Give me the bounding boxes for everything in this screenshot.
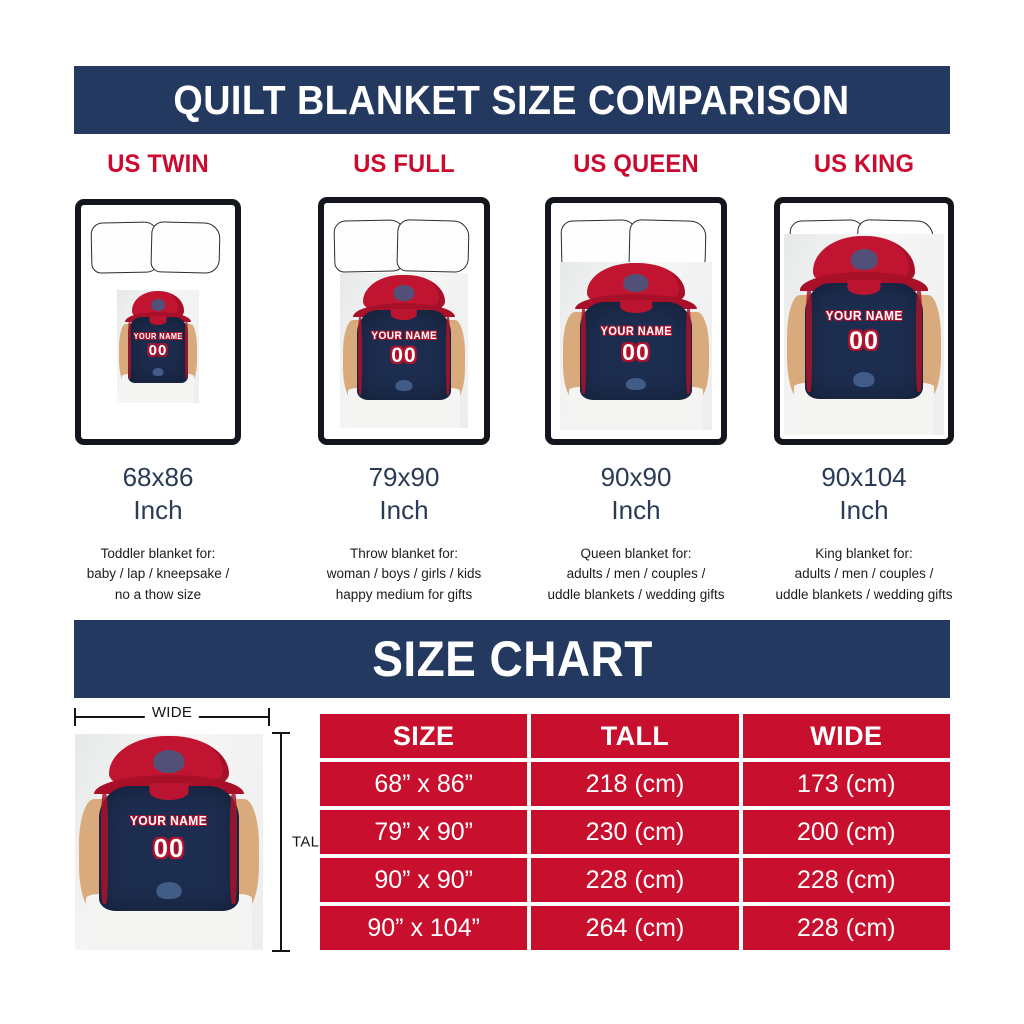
bed-illustration: YOUR NAME 00 [524,195,748,445]
cell-size: 90” x 90” [320,858,527,902]
size-chart-table: SIZE TALL WIDE 68” x 86” 218 (cm) 173 (c… [316,710,954,954]
dimension-value: 90x90 [524,461,748,494]
table-row: 79” x 90” 230 (cm) 200 (cm) [320,810,950,854]
cell-size: 68” x 86” [320,762,527,806]
desc-line-1: Queen blanket for: [524,544,748,565]
blanket-thumbnail: YOUR NAME 00 [340,273,468,428]
page-title: QUILT BLANKET SIZE COMPARISON [174,77,850,124]
wide-measure-line: WIDE [74,706,270,728]
bed-frame: YOUR NAME 00 [318,197,490,445]
wide-cap-right [268,708,270,726]
jersey: YOUR NAME 00 [805,283,923,399]
jersey: YOUR NAME 00 [357,310,451,400]
team-logo-icon [626,378,646,391]
size-label: US QUEEN [530,150,743,179]
size-column-twin: US TWIN [46,150,270,605]
jersey-artwork: YOUR NAME 00 [560,262,712,431]
dimension-value: 68x86 [46,461,270,494]
size-label: US FULL [298,150,511,179]
desc-line-2: adults / men / couples / [752,564,976,585]
jersey-name-text: YOUR NAME [361,330,448,342]
cell-size: 79” x 90” [320,810,527,854]
team-logo-icon [156,882,181,898]
bed-illustration: YOUR NAME 00 [292,195,516,445]
jersey-artwork: YOUR NAME 00 [784,234,944,435]
bed-frame: YOUR NAME 00 [774,197,954,445]
bed-interior: YOUR NAME 00 [85,209,231,435]
jersey-number-text: 00 [357,344,451,368]
pillows [334,216,474,275]
top-banner: QUILT BLANKET SIZE COMPARISON [74,66,950,134]
table-row: 90” x 104” 264 (cm) 228 (cm) [320,906,950,950]
dimension-unit: Inch [524,494,748,527]
size-label: US KING [758,150,971,179]
jersey-number-text: 00 [805,327,923,356]
cell-wide: 228 (cm) [743,906,950,950]
dimension-unit: Inch [46,494,270,527]
team-logo-icon [395,380,412,392]
dimension-block: 90x104 Inch [752,461,976,528]
size-description: Throw blanket for: woman / boys / girls … [292,544,516,606]
column-header-size: SIZE [320,714,527,758]
desc-line-2: adults / men / couples / [524,564,748,585]
table-row: 90” x 90” 228 (cm) 228 (cm) [320,858,950,902]
desc-line-1: King blanket for: [752,544,976,565]
cell-wide: 173 (cm) [743,762,950,806]
size-column-queen: US QUEEN [524,150,748,605]
reference-measure-block: WIDE TALL YOUR NAME 00 [70,706,320,956]
pillow-left [90,221,160,274]
team-logo-icon [853,372,874,387]
wide-cap-left [74,708,76,726]
jersey-number-text: 00 [580,339,693,366]
bed-illustration: YOUR NAME 00 [46,195,270,445]
size-description: King blanket for: adults / men / couples… [752,544,976,606]
bed-frame: YOUR NAME 00 [545,197,727,445]
desc-line-3: uddle blankets / wedding gifts [524,585,748,606]
size-description: Queen blanket for: adults / men / couple… [524,544,748,606]
cell-wide: 228 (cm) [743,858,950,902]
dimension-unit: Inch [292,494,516,527]
bed-interior: YOUR NAME 00 [784,207,944,435]
jersey-number-text: 00 [99,833,238,864]
desc-line-3: happy medium for gifts [292,585,516,606]
desc-line-1: Throw blanket for: [292,544,516,565]
bed-interior: YOUR NAME 00 [328,207,480,435]
desc-line-1: Toddler blanket for: [46,544,270,565]
desc-line-2: woman / boys / girls / kids [292,564,516,585]
bed-frame: YOUR NAME 00 [75,199,241,445]
dimension-unit: Inch [752,494,976,527]
size-chart-title: SIZE CHART [372,630,653,688]
cell-wide: 200 (cm) [743,810,950,854]
jersey-name-text: YOUR NAME [130,332,186,341]
blanket-thumbnail: YOUR NAME 00 [784,234,944,435]
jersey: YOUR NAME 00 [99,786,238,911]
bed-interior: YOUR NAME 00 [555,207,717,435]
dimension-block: 79x90 Inch [292,461,516,528]
table-header-row: SIZE TALL WIDE [320,714,950,758]
pillows [91,218,225,277]
jersey-number-text: 00 [128,342,188,359]
tall-cap-top [272,732,290,734]
desc-line-3: uddle blankets / wedding gifts [752,585,976,606]
dimension-value: 79x90 [292,461,516,494]
pillow-right [151,221,221,274]
bed-illustration: YOUR NAME 00 [752,195,976,445]
dimension-block: 90x90 Inch [524,461,748,528]
size-chart-banner: SIZE CHART [74,620,950,698]
size-label: US TWIN [52,150,265,179]
pillow-right [396,219,469,273]
team-logo-icon [153,368,164,377]
size-column-full: US FULL [292,150,516,605]
size-column-king: US KING [752,150,976,605]
jersey: YOUR NAME 00 [580,302,693,400]
desc-line-3: no a thow size [46,585,270,606]
wide-label: WIDE [145,704,199,721]
dimension-value: 90x104 [752,461,976,494]
tall-cap-bottom [272,950,290,952]
size-comparison-page: QUILT BLANKET SIZE COMPARISON US TWIN [0,0,1024,1024]
cell-tall: 228 (cm) [531,858,738,902]
jersey-artwork: YOUR NAME 00 [340,273,468,428]
column-header-tall: TALL [531,714,738,758]
table-row: 68” x 86” 218 (cm) 173 (cm) [320,762,950,806]
dimension-block: 68x86 Inch [46,461,270,528]
pillow-left [334,219,407,272]
cell-tall: 218 (cm) [531,762,738,806]
jersey-name-text: YOUR NAME [584,324,688,338]
jersey-artwork: YOUR NAME 00 [117,290,199,403]
desc-line-2: baby / lap / kneepsake / [46,564,270,585]
reference-blanket-image: YOUR NAME 00 [75,734,263,950]
blanket-thumbnail: YOUR NAME 00 [117,290,199,403]
blanket-thumbnail: YOUR NAME 00 [560,262,712,431]
column-header-wide: WIDE [743,714,950,758]
jersey-artwork: YOUR NAME 00 [75,734,263,950]
cell-size: 90” x 104” [320,906,527,950]
cell-tall: 264 (cm) [531,906,738,950]
tall-line [280,732,282,952]
cell-tall: 230 (cm) [531,810,738,854]
jersey: YOUR NAME 00 [128,317,188,383]
jersey-name-text: YOUR NAME [105,813,233,828]
size-description: Toddler blanket for: baby / lap / kneeps… [46,544,270,606]
jersey-name-text: YOUR NAME [810,308,919,323]
